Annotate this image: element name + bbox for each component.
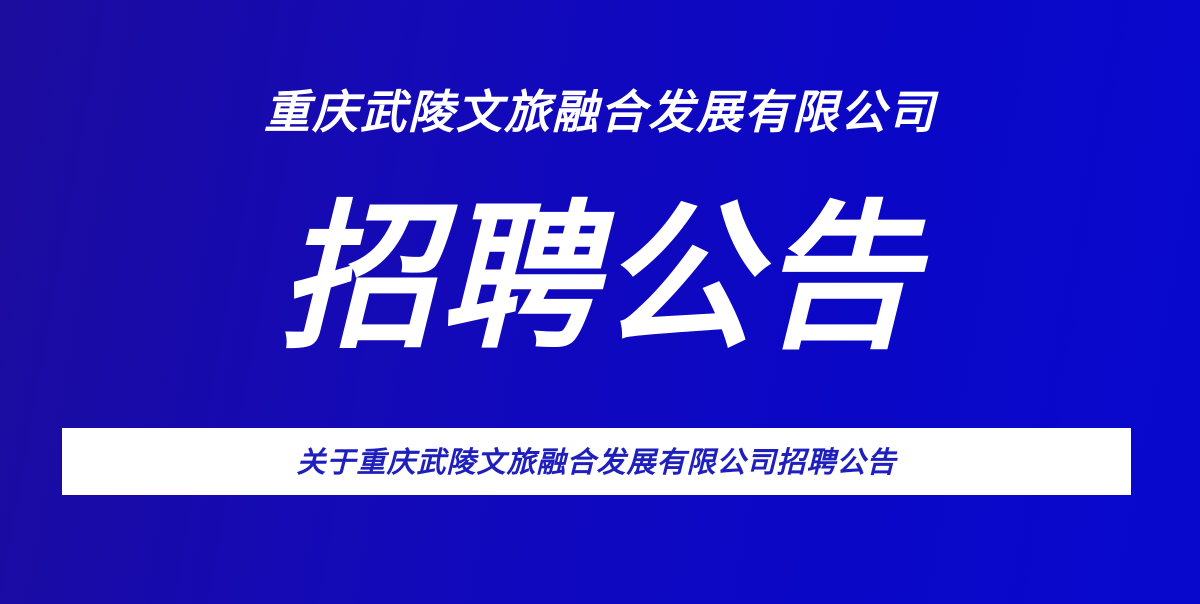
company-name-heading: 重庆武陵文旅融合发展有限公司 (0, 82, 1200, 142)
recruitment-poster: 重庆武陵文旅融合发展有限公司 招聘公告 关于重庆武陵文旅融合发展有限公司招聘公告 (0, 0, 1200, 604)
page-title: 招聘公告 (0, 186, 1200, 370)
announcement-banner: 关于重庆武陵文旅融合发展有限公司招聘公告 (62, 428, 1131, 495)
announcement-banner-text: 关于重庆武陵文旅融合发展有限公司招聘公告 (296, 445, 896, 479)
